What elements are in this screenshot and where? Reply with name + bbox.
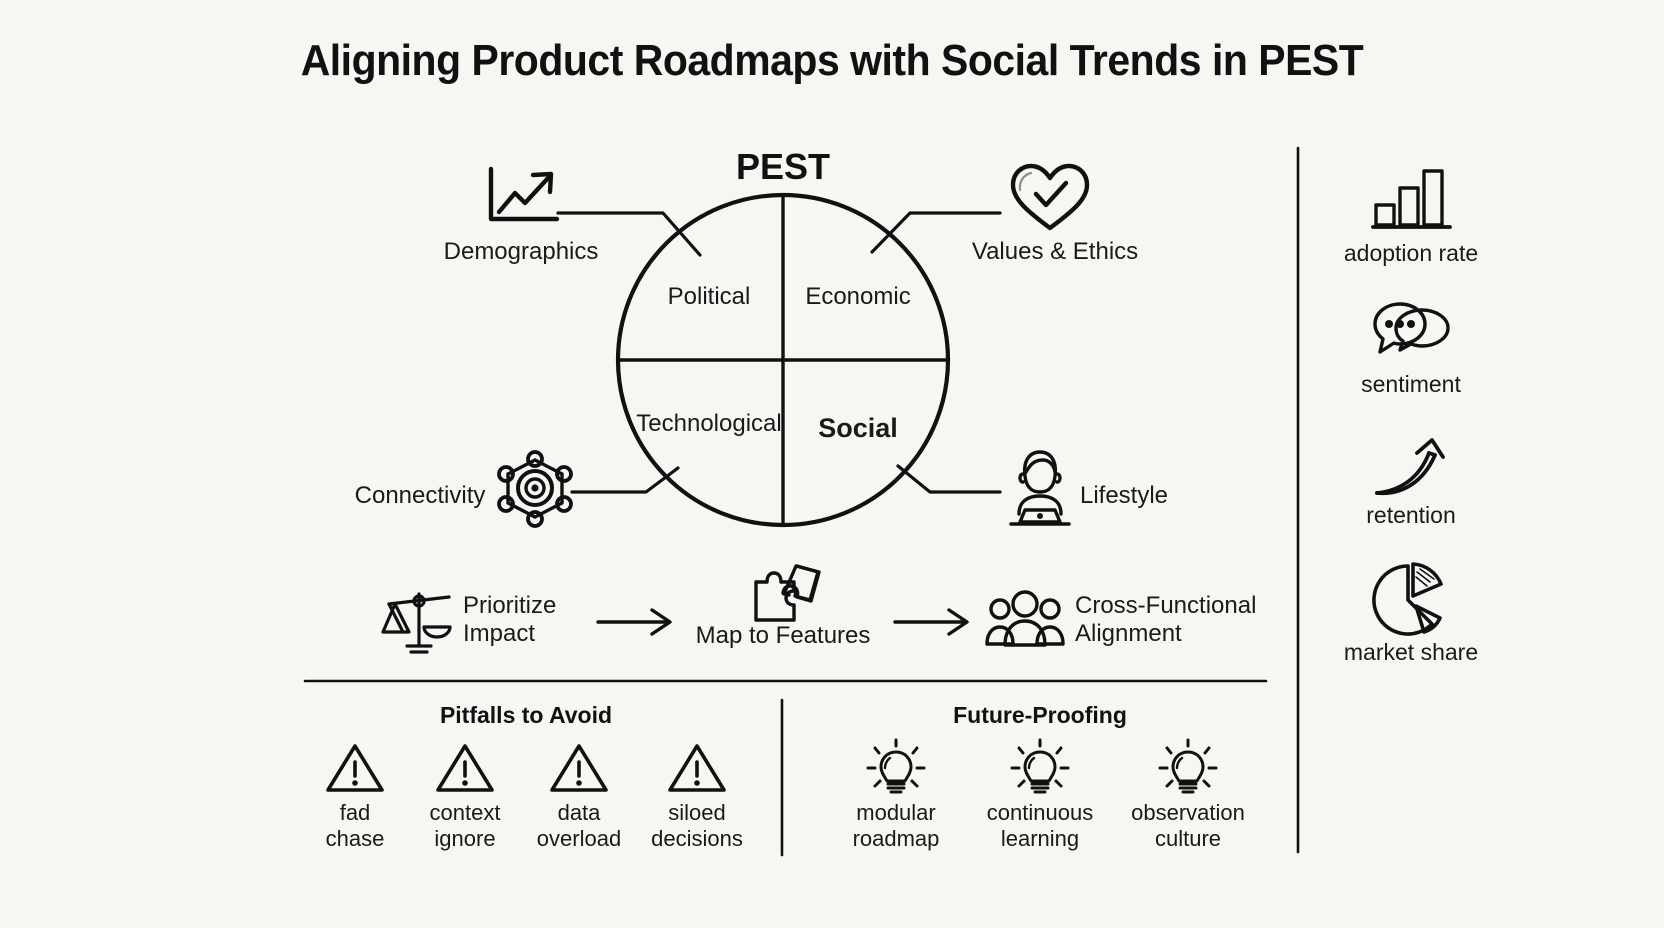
warning-triangle-icon [435, 742, 495, 794]
pest-heading: PEST [736, 146, 830, 188]
pitfall-label-2-line2: overload [537, 826, 621, 851]
people-group-icon [985, 590, 1065, 648]
speech-bubbles-icon [1372, 302, 1458, 364]
quadrant-label-political: Political [668, 283, 751, 311]
future-proofing-label-0-line1: modular [856, 800, 935, 825]
connector-lifestyle [898, 466, 1000, 492]
arrow-right-icon [598, 610, 670, 634]
pitfall-label-1-line2: ignore [434, 826, 495, 851]
puzzle-piece-icon [748, 558, 824, 628]
bar-chart-icon [1371, 163, 1453, 231]
curved-arrow-up-icon [1373, 437, 1451, 499]
metric-label-market-share: market share [1344, 639, 1478, 666]
arrow-right-icon [895, 610, 967, 634]
future-proofing-label-1-line2: learning [1001, 826, 1079, 851]
driver-label-values-ethics: Values & Ethics [972, 238, 1138, 266]
pitfall-label-0-line2: chase [326, 826, 385, 851]
process-step-label-0-line1: Prioritize [463, 593, 556, 620]
metric-label-retention: retention [1366, 502, 1456, 529]
future-proofing-label-0-line2: roadmap [853, 826, 940, 851]
quadrant-label-economic: Economic [805, 283, 910, 311]
process-step-label-1-line1: Map to Features [696, 623, 871, 650]
lightbulb-icon [1158, 738, 1218, 798]
person-laptop-icon [1003, 448, 1077, 528]
driver-label-lifestyle: Lifestyle [1080, 482, 1168, 510]
driver-label-demographics: Demographics [444, 238, 599, 266]
process-step-label-0-line2: Impact [463, 621, 535, 648]
quadrant-label-technological: Technological [636, 410, 781, 438]
driver-label-connectivity: Connectivity [355, 482, 486, 510]
balance-scale-icon [383, 588, 455, 656]
pitfall-label-0-line1: fad [340, 800, 371, 825]
process-step-label-2-line2: Alignment [1075, 621, 1182, 648]
network-hub-icon [495, 448, 575, 528]
warning-triangle-icon [549, 742, 609, 794]
heart-check-icon [1007, 163, 1093, 233]
pitfall-label-3-line1: siloed [668, 800, 725, 825]
pitfalls-title: Pitfalls to Avoid [440, 702, 612, 729]
diagram-canvas: Aligning Product Roadmaps with Social Tr… [0, 0, 1664, 928]
pie-chart-icon [1372, 562, 1452, 638]
warning-triangle-icon [667, 742, 727, 794]
metric-label-sentiment: sentiment [1361, 371, 1461, 398]
process-step-label-2-line1: Cross-Functional [1075, 593, 1256, 620]
future-proofing-label-1-line1: continuous [987, 800, 1093, 825]
future-proofing-title: Future-Proofing [953, 702, 1127, 729]
future-proofing-label-2-line1: observation [1131, 800, 1245, 825]
metric-label-adoption-rate: adoption rate [1344, 240, 1478, 267]
line-chart-up-icon [485, 165, 563, 227]
lightbulb-icon [866, 738, 926, 798]
quadrant-label-social: Social [818, 413, 898, 444]
pitfall-label-1-line1: context [430, 800, 501, 825]
future-proofing-label-2-line2: culture [1155, 826, 1221, 851]
pitfall-label-2-line1: data [558, 800, 601, 825]
warning-triangle-icon [325, 742, 385, 794]
lightbulb-icon [1010, 738, 1070, 798]
pitfall-label-3-line2: decisions [651, 826, 743, 851]
